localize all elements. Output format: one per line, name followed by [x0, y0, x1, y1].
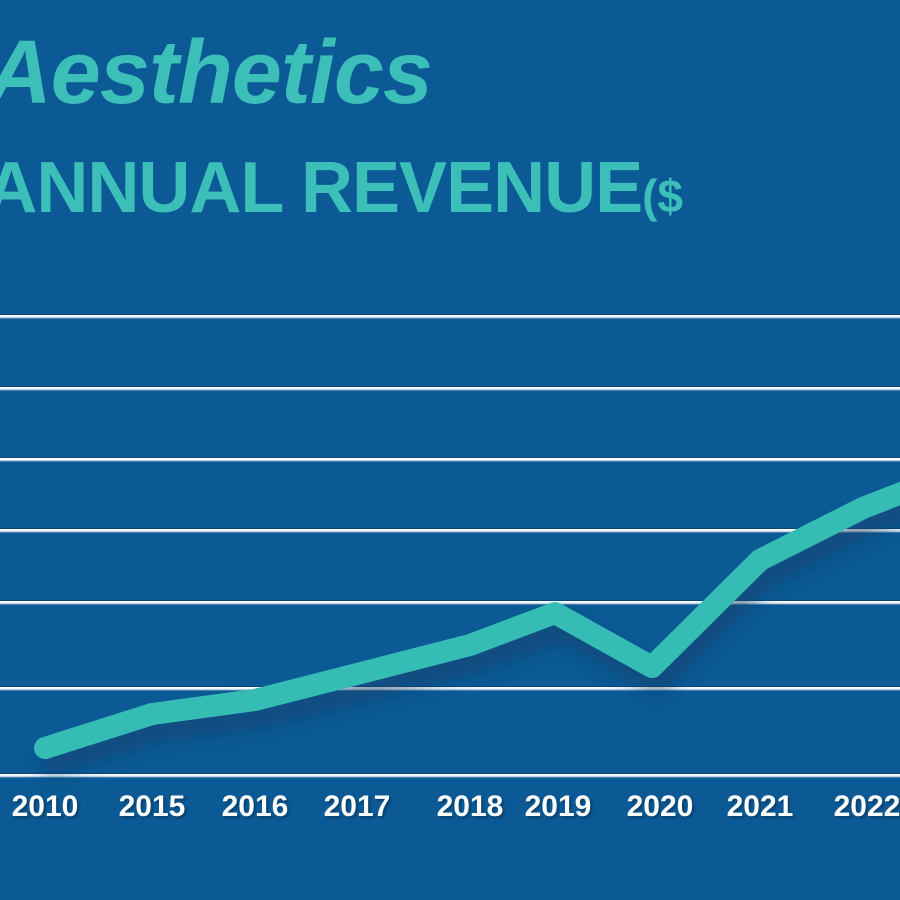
- chart-canvas: ical Aesthetics TRY ANNUAL REVENUE($ 201…: [0, 0, 900, 900]
- gridline: [0, 600, 900, 605]
- x-axis-tick-2021: 2021: [727, 790, 794, 824]
- x-axis-tick-2017: 2017: [324, 790, 391, 824]
- gridline: [0, 457, 900, 462]
- x-axis-tick-2015: 2015: [119, 790, 186, 824]
- x-axis-tick-2019: 2019: [525, 790, 592, 824]
- x-axis: 201020152016201720182019202020212022: [0, 790, 900, 850]
- chart-title-secondary: TRY ANNUAL REVENUE($: [0, 152, 683, 224]
- x-axis-tick-2010: 2010: [12, 790, 79, 824]
- x-axis-tick-2020: 2020: [627, 790, 694, 824]
- chart-title-secondary-text: TRY ANNUAL REVENUE: [0, 148, 642, 228]
- gridline: [0, 686, 900, 691]
- chart-title-units: ($: [642, 170, 683, 222]
- title-block: ical Aesthetics TRY ANNUAL REVENUE($: [0, 0, 900, 250]
- gridline: [0, 386, 900, 391]
- x-axis-tick-2016: 2016: [222, 790, 289, 824]
- gridline: [0, 528, 900, 533]
- chart-title-primary: ical Aesthetics: [0, 28, 432, 118]
- x-axis-tick-2022: 2022: [834, 790, 900, 824]
- x-axis-tick-2018: 2018: [437, 790, 504, 824]
- gridline: [0, 773, 900, 778]
- gridline: [0, 314, 900, 319]
